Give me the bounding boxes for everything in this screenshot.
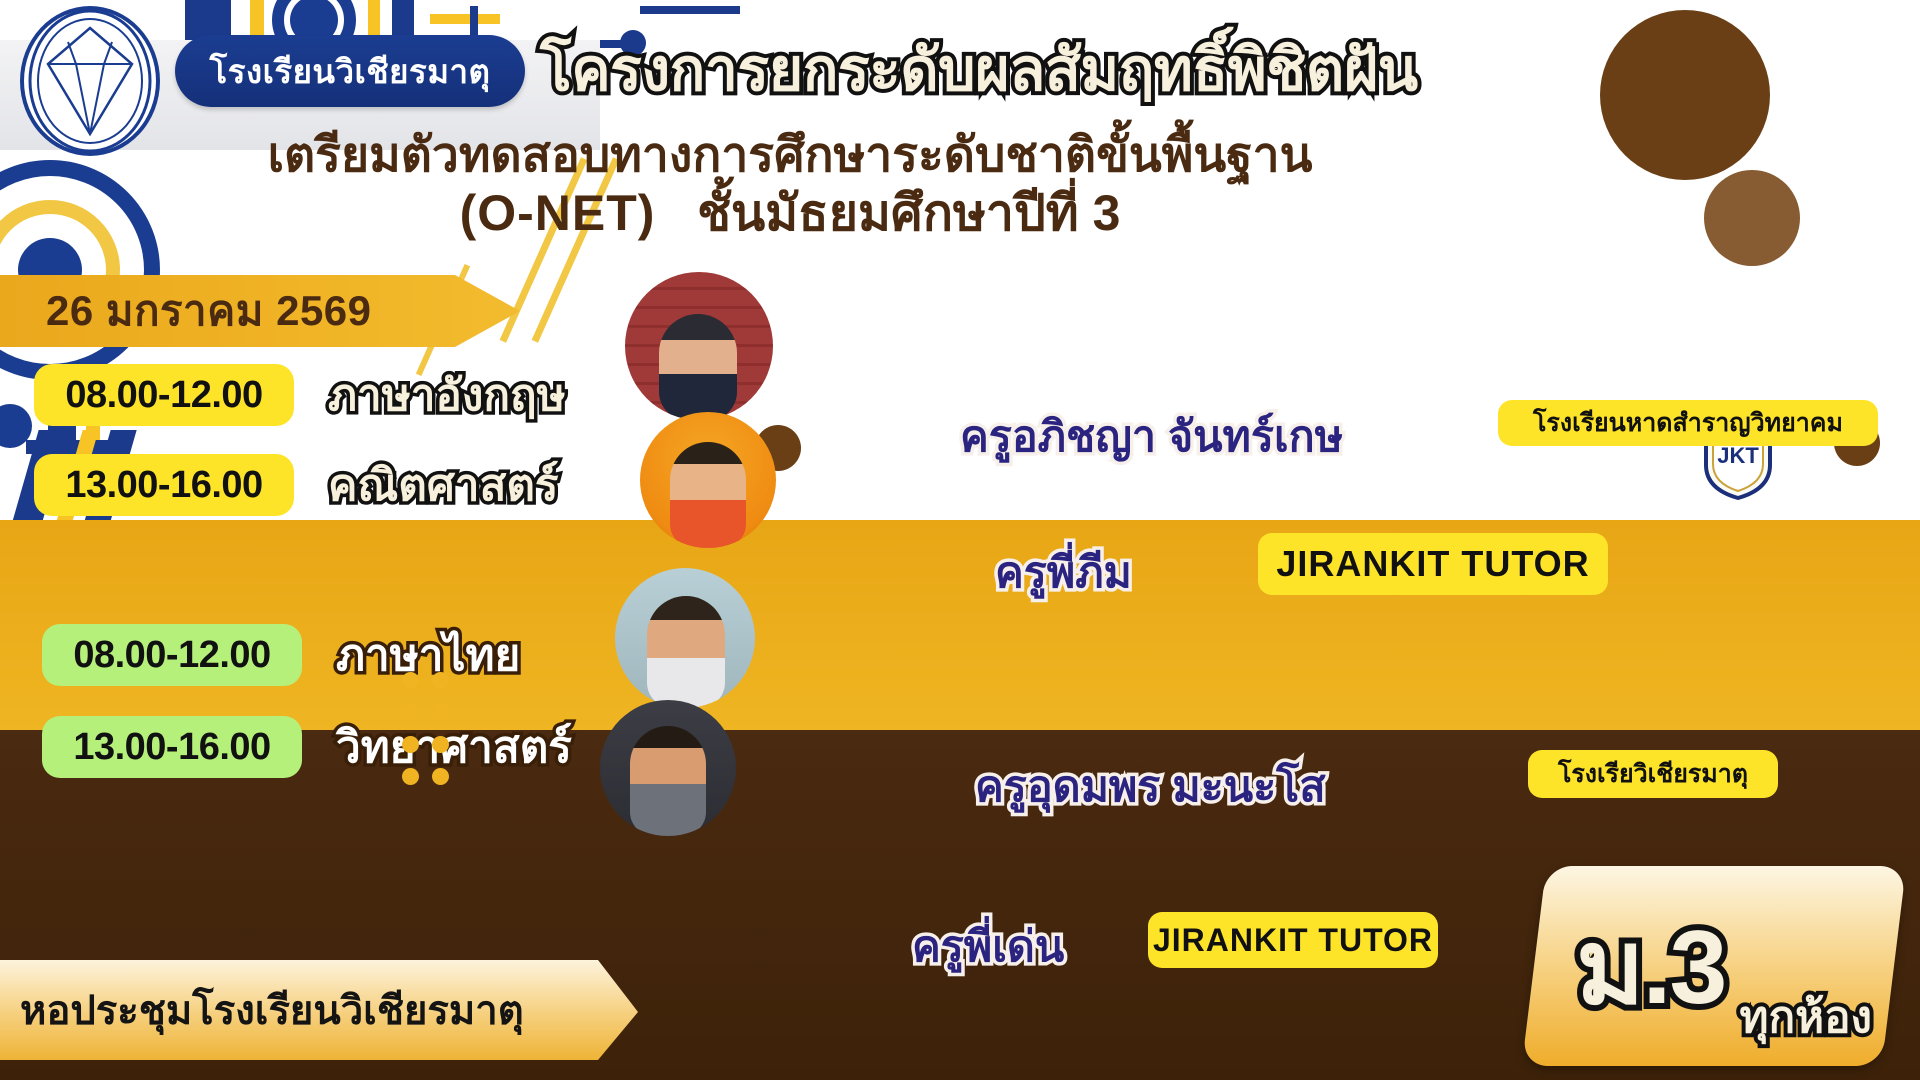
svg-text:JKT: JKT: [1717, 443, 1759, 468]
schedule-row: 13.00-16.00 คณิตศาสตร์: [34, 450, 559, 520]
teacher-name: ครูพี่เด่น: [912, 912, 1064, 980]
grade-badge: ม.3 ทุกห้อง: [1522, 866, 1907, 1066]
subtitle-line-1: เตรียมตัวทดสอบทางการศึกษาระดับชาติขั้นพื…: [268, 129, 1313, 182]
teacher-name: ครูพี่ภีม: [995, 538, 1132, 606]
decorative-dot-grid: [402, 672, 462, 792]
time-pill: 08.00-12.00: [42, 624, 302, 686]
avatar: [625, 272, 773, 420]
decorative-blob-large: [1600, 10, 1770, 180]
school-logo: [20, 6, 160, 156]
organization-badge: โรงเรียนหาดสำราญวิทยาคม: [1498, 400, 1878, 446]
organization-badge: JIRANKIT TUTOR: [1148, 912, 1438, 968]
date-banner-1: 26 มกราคม 2569: [0, 275, 520, 347]
grade-level: ชั้นมัธยมศึกษาปีที่ 3: [697, 185, 1120, 241]
subject-label: คณิตศาสตร์: [328, 450, 559, 520]
subtitle: เตรียมตัวทดสอบทางการศึกษาระดับชาติขั้นพื…: [190, 130, 1390, 240]
poster-root: โรงเรียนวิเชียรมาตุ โครงการยกระดับผลสัมฤ…: [0, 0, 1920, 1080]
subtitle-line-2: (O-NET) ชั้นมัธยมศึกษาปีที่ 3: [190, 186, 1390, 240]
schedule-row: 13.00-16.00 วิทยาศาสตร์: [42, 712, 572, 782]
grade-badge-main: ม.3: [1576, 884, 1725, 1049]
time-pill: 13.00-16.00: [42, 716, 302, 778]
school-name-badge: โรงเรียนวิเชียรมาตุ: [175, 35, 525, 107]
teacher-name: ครูอภิชญา จันทร์เกษ: [960, 402, 1343, 470]
teacher-name: ครูอุดมพร มะนะโส: [975, 752, 1326, 820]
schedule-row: 08.00-12.00 ภาษาอังกฤษ: [34, 360, 566, 430]
page-title: โครงการยกระดับผลสัมฤทธิ์พิชิตฝัน: [540, 22, 1418, 116]
avatar: [600, 700, 736, 836]
subject-label: ภาษาอังกฤษ: [328, 360, 566, 430]
time-pill: 08.00-12.00: [34, 364, 294, 426]
venue-banner: หอประชุมโรงเรียนวิเชียรมาตุ: [0, 960, 638, 1060]
time-pill: 13.00-16.00: [34, 454, 294, 516]
decorative-blob-medium: [1704, 170, 1800, 266]
avatar: [615, 568, 755, 708]
exam-name: (O-NET): [460, 185, 656, 241]
organization-badge: โรงเรียวิเชียรมาตุ: [1528, 750, 1778, 798]
grade-badge-sub: ทุกห้อง: [1739, 982, 1872, 1052]
avatar: [640, 412, 776, 548]
organization-badge: JIRANKIT TUTOR: [1258, 533, 1608, 595]
